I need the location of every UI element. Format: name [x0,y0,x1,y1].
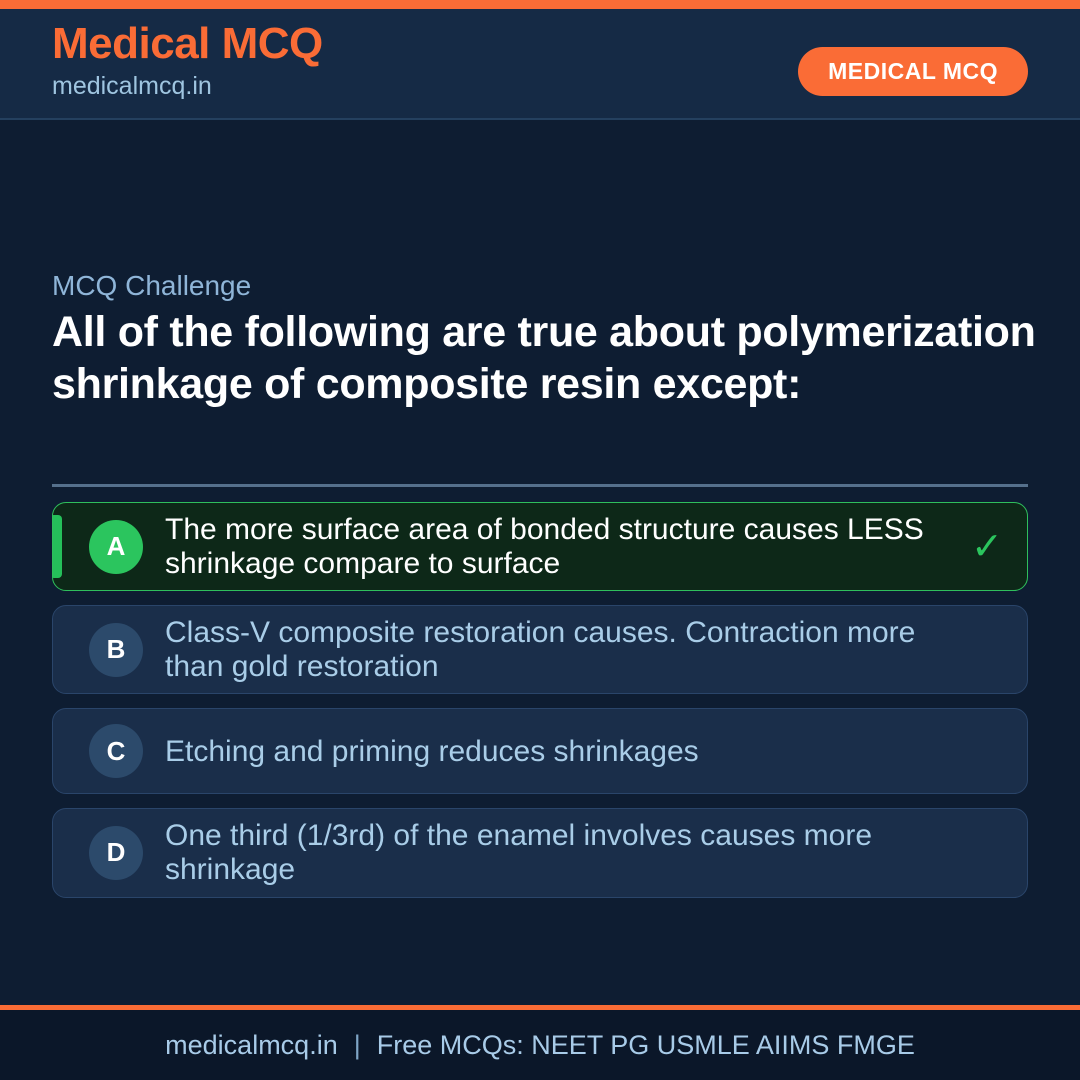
header-badge: MEDICAL MCQ [798,47,1028,96]
footer-exams: Free MCQs: NEET PG USMLE AIIMS FMGE [377,1030,915,1061]
option-letter-badge-d: D [89,826,143,880]
main-content: MCQ Challenge All of the following are t… [0,122,1080,1010]
option-row-d[interactable]: D One third (1/3rd) of the enamel involv… [52,808,1028,897]
page-footer: medicalmcq.in | Free MCQs: NEET PG USMLE… [0,1010,1080,1080]
check-icon: ✓ [971,528,1003,566]
brand-title: Medical MCQ [52,21,323,67]
option-row-c[interactable]: C Etching and priming reduces shrinkages [52,708,1028,794]
brand-subtitle: medicalmcq.in [52,71,323,101]
question-text: All of the following are true about poly… [52,306,1042,411]
option-text-c: Etching and priming reduces shrinkages [165,735,957,769]
option-letter-badge-c: C [89,724,143,778]
option-letter-badge-b: B [89,623,143,677]
option-row-a[interactable]: A The more surface area of bonded struct… [52,502,1028,591]
brand: Medical MCQ medicalmcq.in [52,21,323,101]
option-row-b[interactable]: B Class-V composite restoration causes. … [52,605,1028,694]
option-text-a: The more surface area of bonded structur… [165,513,957,580]
page-header: Medical MCQ medicalmcq.in MEDICAL MCQ [0,9,1080,120]
question-divider [52,484,1028,487]
option-text-d: One third (1/3rd) of the enamel involves… [165,819,957,886]
options-list: A The more surface area of bonded struct… [52,502,1028,912]
option-text-b: Class-V composite restoration causes. Co… [165,616,957,683]
option-letter-badge-a: A [89,520,143,574]
top-accent-bar [0,0,1080,9]
eyebrow-label: MCQ Challenge [52,270,251,302]
footer-site: medicalmcq.in [165,1030,338,1061]
correct-accent-bar [53,515,62,578]
footer-separator: | [354,1030,361,1061]
